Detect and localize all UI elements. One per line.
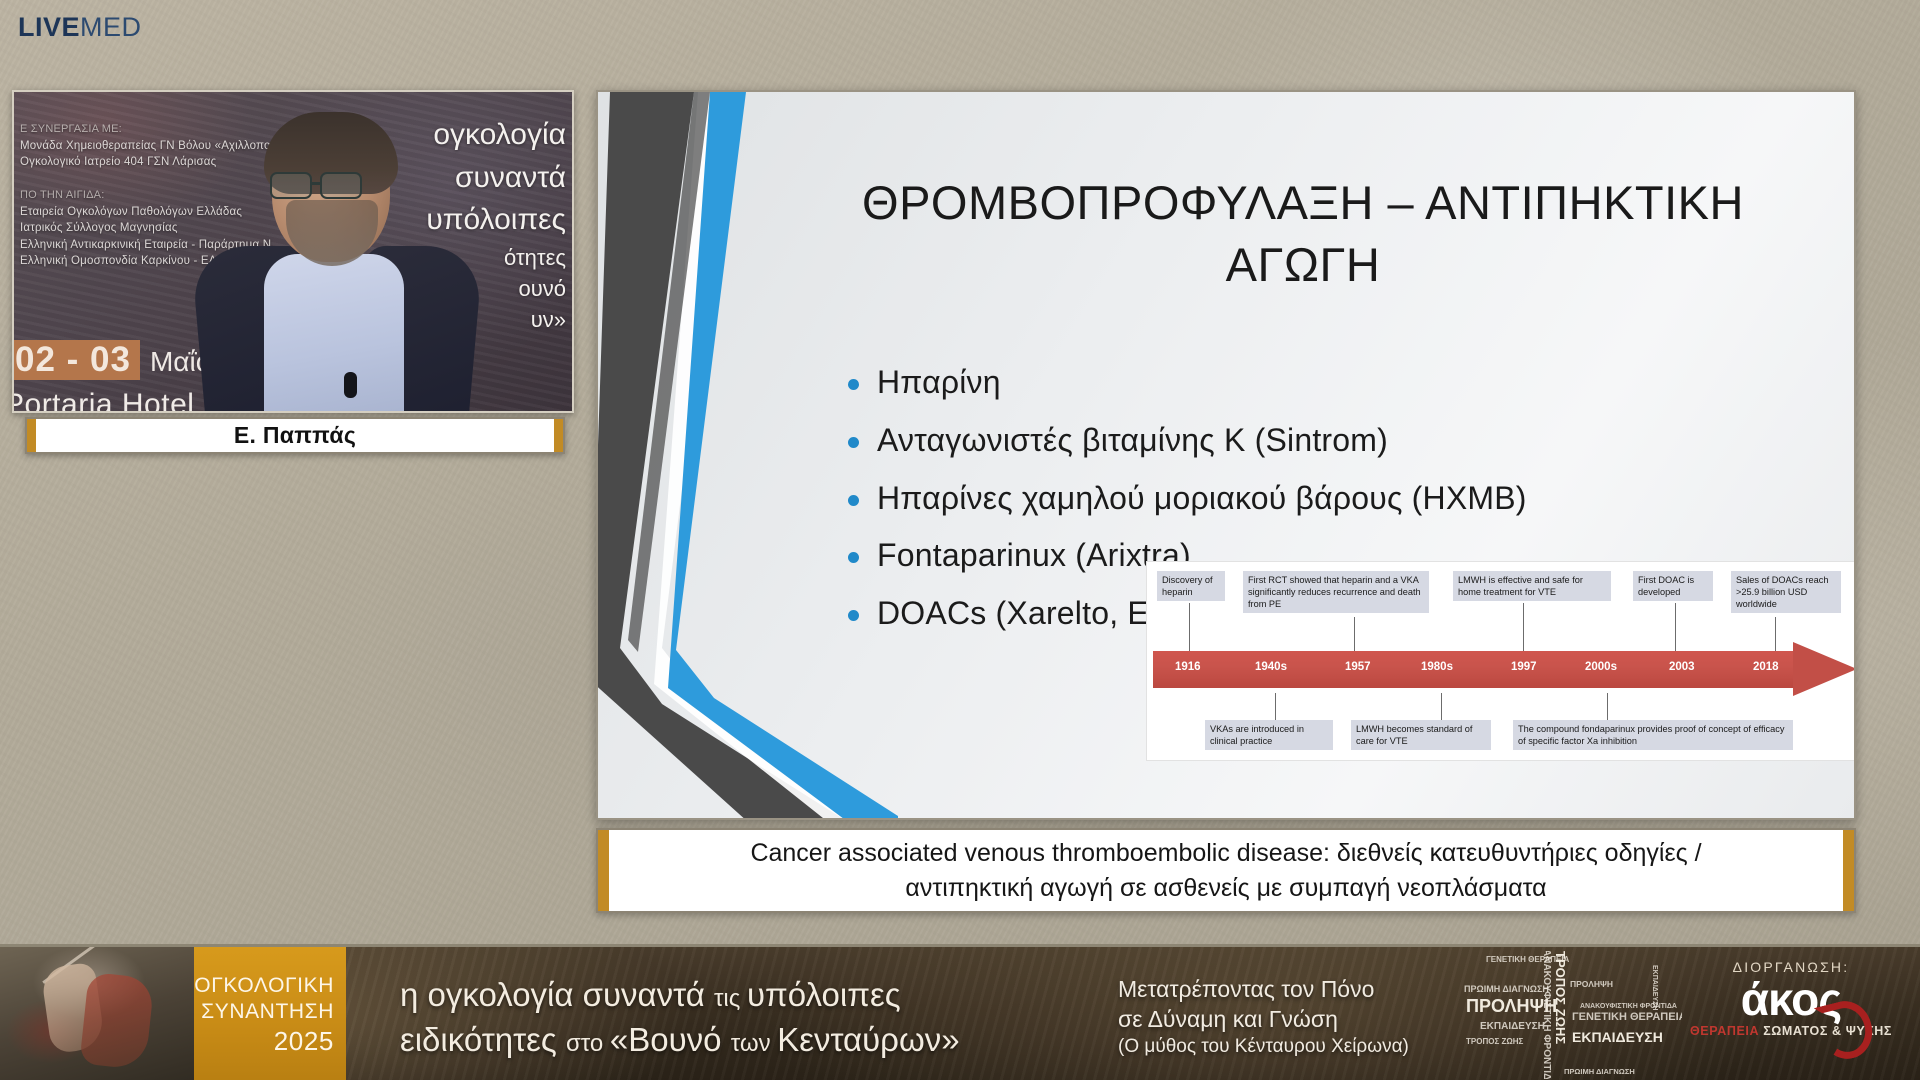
banner-subtitle: Μετατρέποντας τον Πόνο σε Δύναμη και Γνώ… [1118, 975, 1448, 1059]
session-title-bar: Cancer associated venous thromboembolic … [596, 828, 1856, 913]
livemed-logo: LIVEMED [18, 14, 142, 41]
timeline-stem [1675, 603, 1676, 651]
timeline-stem [1607, 693, 1608, 721]
caption-line-2: αντιπηκτική αγωγή σε ασθενείς με συμπαγή… [905, 871, 1546, 906]
timeline-event-box: LMWH becomes standard of care for VTE [1351, 720, 1491, 750]
caption-text: Cancer associated venous thromboembolic … [609, 830, 1843, 911]
organizer-tagline-red: ΘΕΡΑΠΕΙΑ [1690, 1024, 1759, 1038]
banner-title-seg: των [731, 1030, 778, 1057]
wordcloud-term: ΕΚΠΑΙΔΕΥΣΗ [1651, 965, 1658, 1010]
centaur-artwork [0, 947, 212, 1080]
timeline-year-label: 2003 [1669, 661, 1695, 673]
bullet-dot-icon [848, 379, 859, 390]
banner-subtitle-line-3: (Ο μύθος του Κένταυρου Χείρωνα) [1118, 1035, 1448, 1060]
wordcloud-term: ΑΝΑΚΟΥΦΙΣΤΙΚΗ ΦΡΟΝΤΙΔΑ [1541, 951, 1552, 1079]
shirt [264, 254, 404, 413]
bullet-text: Fontaparinux (Arixtra) [877, 537, 1191, 574]
banner-title-line-1: η ογκολογία συναντά τις υπόλοιπες [400, 973, 1090, 1018]
bullet-text: Ηπαρίνες χαμηλού μοριακού βάρους (ΗΧΜΒ) [877, 480, 1527, 517]
banner-title-seg: τις [714, 985, 747, 1012]
glasses-bridge [312, 182, 322, 185]
poster-date-badge: 02 - 03 [12, 340, 140, 380]
wordcloud-term: ΠΡΟΛΗΨΗ [1570, 979, 1613, 989]
banner-title-seg: η ογκολογία συναντά [400, 976, 714, 1013]
timeline-year-label: 1997 [1511, 661, 1537, 673]
bullet-dot-icon [848, 610, 859, 621]
glasses-left-lens [270, 172, 312, 199]
speaker-nameplate: Ε. Παππάς [25, 417, 565, 454]
list-item: Ηπαρίνες χαμηλού μοριακού βάρους (ΗΧΜΒ) [848, 480, 1728, 517]
list-item: Ηπαρίνη [848, 364, 1728, 401]
banner-gold-block: ΟΓΚΟΛΟΓΙΚΗ ΣΥΝΑΝΤΗΣΗ 2025 [194, 947, 346, 1080]
timeline-event-box: The compound fondaparinux provides proof… [1513, 720, 1793, 750]
banner-title-seg: στο [566, 1030, 610, 1057]
presentation-slide[interactable]: ΘΡΟΜΒΟΠΡΟΦΥΛΑΞΗ – ΑΝΤΙΠΗΚΤΙΚΗ ΑΓΩΓΗ Ηπαρ… [596, 90, 1856, 820]
speaker-name: Ε. Παππάς [36, 419, 554, 452]
banner-title-seg: ειδικότητες [400, 1021, 566, 1058]
banner-gold-line-2: ΣΥΝΑΝΤΗΣΗ [201, 999, 334, 1024]
bullet-text: Ανταγωνιστές βιταμίνης K (Sintrom) [877, 422, 1388, 459]
wordcloud-term: ΑΝΑΚΟΥΦΙΣΤΙΚΗ ΦΡΟΝΤΙΔΑ [1580, 1003, 1677, 1010]
banner-title-seg: Κενταύρων» [777, 1021, 959, 1058]
caption-accent-left [598, 830, 609, 911]
timeline-event-box: First DOAC is developed [1633, 571, 1713, 601]
nameplate-accent-left [27, 419, 36, 452]
timeline-year-label: 1940s [1255, 661, 1287, 673]
timeline-event-box: LMWH is effective and safe for home trea… [1453, 571, 1611, 601]
timeline-year-label: 1957 [1345, 661, 1371, 673]
anticoagulation-timeline-figure: Discovery of heparin First RCT showed th… [1146, 561, 1856, 761]
glasses-right-lens [320, 172, 362, 199]
caption-accent-right [1843, 830, 1854, 911]
poster-venue: Portaria Hotel [12, 388, 194, 413]
banner-gold-line-1: ΟΓΚΟΛΟΓΙΚΗ [194, 973, 334, 998]
speaker-video-panel[interactable]: Ε ΣΥΝΕΡΓΑΣΙΑ ΜΕ: Μονάδα Χημειοθεραπείας … [12, 90, 574, 413]
timeline-stem [1189, 603, 1190, 651]
bullet-text: Ηπαρίνη [877, 364, 1001, 401]
logo-med-text: MED [80, 12, 142, 42]
organizer-mark: άκος [1684, 975, 1898, 1024]
timeline-stem [1441, 693, 1442, 721]
timeline-year-label: 2018 [1753, 661, 1779, 673]
timeline-year-label: 1980s [1421, 661, 1453, 673]
timeline-year-label: 2000s [1585, 661, 1617, 673]
wordcloud-term: ΕΚΠΑΙΔΕΥΣΗ [1480, 1021, 1545, 1032]
timeline-event-box: VKAs are introduced in clinical practice [1205, 720, 1333, 750]
banner-main-title: η ογκολογία συναντά τις υπόλοιπες ειδικό… [400, 973, 1090, 1063]
figure-shape-red [79, 972, 154, 1070]
bullet-dot-icon [848, 437, 859, 448]
banner-subtitle-line-1: Μετατρέποντας τον Πόνο [1118, 975, 1448, 1005]
slide-title: ΘΡΟΜΒΟΠΡΟΦΥΛΑΞΗ – ΑΝΤΙΠΗΚΤΙΚΗ ΑΓΩΓΗ [798, 172, 1808, 296]
banner-title-seg: «Βουνό [610, 1021, 731, 1058]
timeline-year-label: 1916 [1175, 661, 1201, 673]
bullet-dot-icon [848, 552, 859, 563]
wordcloud-term: ΤΡΟΠΟΣ ΖΩΗΣ [1553, 951, 1568, 1044]
wordcloud-term: ΤΡΟΠΟΣ ΖΩΗΣ [1466, 1037, 1523, 1046]
timeline-stem [1523, 603, 1524, 651]
bullet-dot-icon [848, 495, 859, 506]
timeline-arrow: 1916 1940s 1957 1980s 1997 2000s 2003 20… [1153, 646, 1856, 693]
timeline-stem [1275, 693, 1276, 721]
timeline-arrow-body [1153, 651, 1799, 688]
timeline-event-box: Sales of DOACs reach >25.9 billion USD w… [1731, 571, 1841, 613]
microphone-icon [344, 372, 357, 398]
banner-subtitle-line-2: σε Δύναμη και Γνώση [1118, 1005, 1448, 1035]
banner-title-seg: υπόλοιπες [747, 976, 901, 1013]
nameplate-accent-right [554, 419, 563, 452]
timeline-event-box: First RCT showed that heparin and a VKA … [1243, 571, 1429, 613]
wordcloud-term: ΠΡΩΙΜΗ ΔΙΑΓΝΩΣΗ [1464, 984, 1549, 994]
speaker-figure [220, 114, 480, 413]
swirl-icon [1814, 996, 1878, 1065]
banner-wordcloud: ΓΕΝΕΤΙΚΗ ΘΕΡΑΠΕΙΑ ΠΡΩΙΜΗ ΔΙΑΓΝΩΣΗ ΠΡΟΛΗΨ… [1452, 951, 1682, 1079]
timeline-event-box: Discovery of heparin [1157, 571, 1225, 601]
conference-banner: ΟΓΚΟΛΟΓΙΚΗ ΣΥΝΑΝΤΗΣΗ 2025 η ογκολογία συ… [0, 944, 1920, 1080]
banner-title-line-2: ειδικότητες στο «Βουνό των Κενταύρων» [400, 1018, 1090, 1063]
wordcloud-term: ΠΡΩΙΜΗ ΔΙΑΓΝΩΣΗ [1564, 1067, 1635, 1076]
logo-live-text: LIVE [18, 12, 80, 42]
wordcloud-term: ΓΕΝΕΤΙΚΗ ΘΕΡΑΠΕΙΑ [1572, 1011, 1682, 1023]
timeline-arrow-head [1793, 642, 1856, 696]
wordcloud-term: ΕΚΠΑΙΔΕΥΣΗ [1572, 1029, 1663, 1045]
list-item: Ανταγωνιστές βιταμίνης K (Sintrom) [848, 422, 1728, 459]
organizer-logo: ΔΙΟΡΓΑΝΩΣΗ: άκος ΘΕΡΑΠΕΙΑ ΣΩΜΑΤΟΣ & ΨΥΧΗ… [1684, 959, 1898, 1071]
caption-line-1: Cancer associated venous thromboembolic … [750, 836, 1701, 871]
banner-gold-year: 2025 [274, 1026, 334, 1057]
